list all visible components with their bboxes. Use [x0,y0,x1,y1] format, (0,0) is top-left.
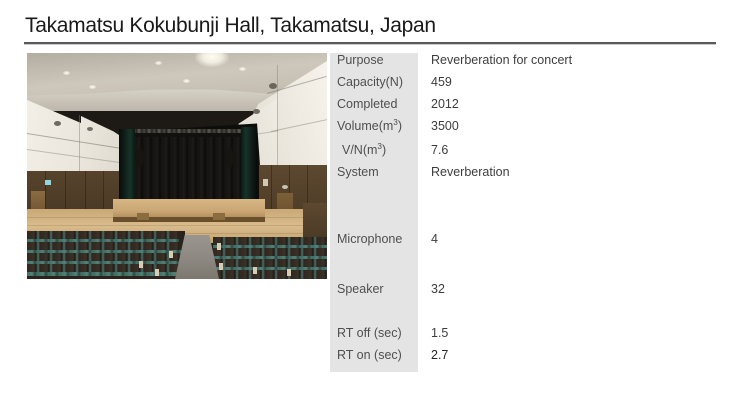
table-row-value: 32 [418,282,445,296]
page-title: Takamatsu Kokubunji Hall, Takamatsu, Jap… [25,14,715,38]
concert-hall-interior-photo [27,53,327,279]
table-row: Volume(m3) 3500 [330,119,616,133]
table-row-label: Speaker [330,282,418,296]
table-row-label: V/N(m3) [330,143,418,157]
table-row: Completed 2012 [330,97,616,111]
table-row: Microphone 4 [330,232,616,246]
photo-panel-port [253,109,260,114]
table-row-value: 2012 [418,97,459,111]
table-row: RT off (sec) 1.5 [330,326,616,340]
photo-stage-edge [113,217,265,222]
photo-seating-block-left [27,231,185,279]
photo-seating-block-right [213,237,327,279]
table-row: Capacity(N) 459 [330,75,616,89]
photo-wall-plate [263,179,268,186]
photo-rear-wall [303,203,327,239]
photo-stage-vent [213,213,225,220]
table-row-label: RT on (sec) [330,348,418,362]
photo-downlight [63,71,70,75]
table-row: Purpose Reverberation for concert [330,53,616,67]
table-row-value: Reverberation for concert [418,53,572,67]
photo-panel-port [87,127,93,131]
photo-downlight [89,85,96,89]
table-row: V/N(m3) 7.6 [330,143,616,157]
photo-curtain-leg [241,127,257,205]
table-row-label: Completed [330,97,418,111]
photo-lighting-batten [127,129,249,133]
photo-downlight [183,79,190,83]
photo-downlight [239,67,246,71]
table-row: Speaker 32 [330,282,616,296]
table-row-label-text: Volume(m [337,119,393,133]
table-row-label: RT off (sec) [330,326,418,340]
specification-table: Purpose Reverberation for concert Capaci… [330,53,616,373]
title-divider-light-line [24,44,716,45]
table-row-value: 7.6 [418,143,448,157]
table-row-label: Microphone [330,232,418,246]
table-row-label-tail: ) [382,143,386,157]
table-row-value: Reverberation [418,165,510,179]
table-row-value: 1.5 [418,326,448,340]
table-row: RT on (sec) 2.7 [330,348,616,362]
title-divider [24,42,716,45]
table-row-value: 4 [418,232,438,246]
table-row-value: 459 [418,75,452,89]
table-row-label: Volume(m3) [330,119,418,133]
table-row: System Reverberation [330,165,616,179]
photo-panel-seam [79,115,80,177]
table-row-value: 3500 [418,119,459,133]
photo-panel-port [269,83,277,89]
photo-stage-vent [137,213,149,220]
table-row-label: Capacity(N) [330,75,418,89]
photo-downlight [155,61,162,65]
photo-curtain-leg [119,129,135,205]
photo-wall-plate [282,185,288,189]
table-row-value: 2.7 [418,348,448,362]
table-row-label-tail: ) [398,119,402,133]
slide-canvas: Takamatsu Kokubunji Hall, Takamatsu, Jap… [0,0,740,401]
photo-exit-sign [45,180,51,185]
table-row-label: Purpose [330,53,418,67]
table-row-label: System [330,165,418,179]
photo-panel-port [54,121,61,126]
photo-ceiling-light-glow [195,53,229,67]
table-row-label-text: V/N(m [342,143,377,157]
